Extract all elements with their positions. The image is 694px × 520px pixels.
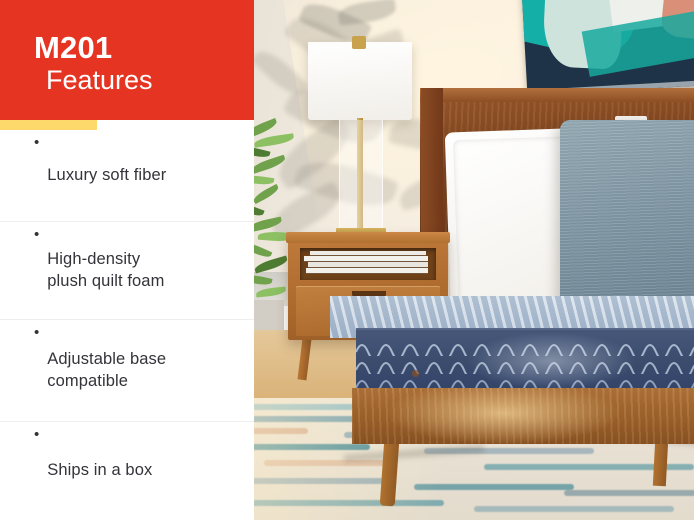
bed-frame-rail: [352, 388, 694, 444]
lamp-glass-base: [339, 120, 383, 232]
model-name: M201: [34, 32, 153, 63]
bullet-icon: •: [34, 427, 39, 442]
mattress-side-panel: [356, 332, 694, 390]
feature-item: •High-densityplush quilt foam: [0, 222, 254, 320]
feature-label: Luxury soft fiber: [47, 165, 166, 186]
accent-bar: [0, 120, 97, 130]
lamp-finial: [352, 36, 366, 49]
blue-accent-pillow: [560, 120, 694, 320]
feature-item: •Ships in a box: [0, 422, 254, 520]
bullet-icon: •: [34, 135, 39, 150]
headboard-top-rail: [420, 88, 694, 102]
bed-leg: [653, 440, 668, 487]
feature-label: High-densityplush quilt foam: [47, 249, 164, 291]
feature-label: Ships in a box: [47, 460, 152, 481]
nightstand-open-shelf: [300, 248, 436, 280]
bullet-icon: •: [34, 227, 39, 242]
bed-rail-screw: [412, 370, 419, 377]
hero-subtitle: Features: [46, 67, 153, 94]
lamp-shade: [308, 42, 412, 120]
page-title: M201 Features: [34, 32, 153, 94]
feature-item: •Luxury soft fiber: [0, 130, 254, 222]
bullet-icon: •: [34, 325, 39, 340]
hero-banner: M201 Features: [0, 0, 254, 120]
feature-label: Adjustable basecompatible: [47, 349, 166, 391]
product-feature-card: M201 Features •Luxury soft fiber•High-de…: [0, 0, 694, 520]
nightstand-top: [286, 232, 450, 243]
feature-panel: M201 Features •Luxury soft fiber•High-de…: [0, 0, 254, 520]
wall-art-canvas: [521, 0, 694, 95]
feature-item: •Adjustable basecompatible: [0, 320, 254, 422]
feature-list: •Luxury soft fiber•High-densityplush qui…: [0, 130, 254, 520]
